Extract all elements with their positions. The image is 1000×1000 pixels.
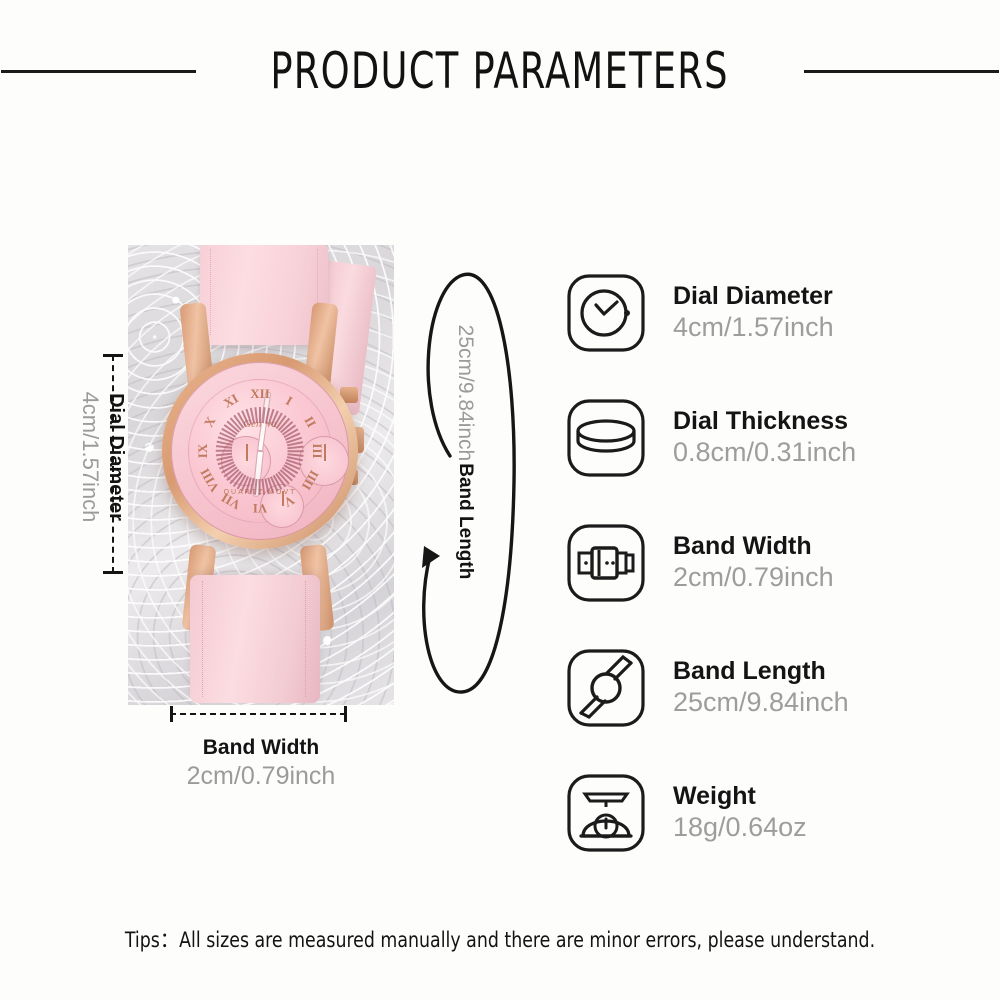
annotation-band-length: Band Length 25cm/9.84inch <box>404 250 524 710</box>
annotation-label: Band Length <box>454 463 476 579</box>
dial-roman-numeral: I <box>282 393 294 409</box>
dimension-cap-right <box>344 706 347 722</box>
dimension-line-horizontal <box>170 713 346 715</box>
dial-roman-numeral: III <box>309 443 325 458</box>
watch-case: Geneva QUARTZ MOVT XIIIIIIIIIIIIVVIVIIVI… <box>162 353 358 549</box>
annotation-dial-diameter: Dial Diameter 4cm/1.57inch <box>60 350 130 580</box>
product-photo: Geneva QUARTZ MOVT XIIIIIIIIIIIIVVIVIIVI… <box>128 245 394 705</box>
page-footer: Tips：All sizes are measured manually and… <box>0 924 1000 954</box>
annotation-value: 4cm/1.57inch <box>77 392 103 523</box>
watch-band-icon <box>565 522 647 604</box>
page-title: PRODUCT PARAMETERS <box>271 42 729 100</box>
spec-value: 4cm/1.57inch <box>673 311 834 343</box>
cylinder-icon <box>565 397 647 479</box>
measurement-diagram: Geneva QUARTZ MOVT XIIIIIIIIIIIIVVIVIIVI… <box>0 150 520 850</box>
spec-value: 2cm/0.79inch <box>673 561 834 593</box>
dimension-cap-bottom <box>103 571 123 574</box>
strap-bottom-segment <box>190 575 320 703</box>
watch-dial: Geneva QUARTZ MOVT XIIIIIIIIIIIIVVIVIIVI… <box>188 379 332 523</box>
dial-roman-numeral: XI <box>221 391 242 412</box>
spec-value: 18g/0.64oz <box>673 811 807 843</box>
title-rule-right <box>804 70 999 73</box>
watch-face-icon <box>565 272 647 354</box>
annotation-label: Band Width <box>128 736 394 760</box>
annotation-band-width: Band Width 2cm/0.79inch <box>128 706 394 791</box>
spec-row-dial-thickness: Dial Thickness 0.8cm/0.31inch <box>565 375 985 500</box>
spec-label: Dial Diameter <box>673 282 834 312</box>
title-rule-left <box>1 70 196 73</box>
spec-row-band-width: Band Width 2cm/0.79inch <box>565 500 985 625</box>
spec-label: Band Width <box>673 532 834 562</box>
dial-roman-numeral: XII <box>250 386 270 402</box>
spec-row-band-length: Band Length 25cm/9.84inch <box>565 625 985 750</box>
spec-list: Dial Diameter 4cm/1.57inch Dial Thicknes… <box>565 250 985 875</box>
dial-roman-numeral: VI <box>253 500 267 516</box>
wristwatch-icon <box>565 647 647 729</box>
tips-text: Tips：All sizes are measured manually and… <box>40 924 960 954</box>
kitchen-scale-icon <box>565 772 647 854</box>
spec-value: 0.8cm/0.31inch <box>673 436 856 468</box>
spec-label: Band Length <box>673 657 849 687</box>
annotation-value: 2cm/0.79inch <box>128 762 394 791</box>
spec-row-weight: Weight 18g/0.64oz <box>565 750 985 875</box>
spec-value: 25cm/9.84inch <box>673 686 849 718</box>
annotation-label: Dial Diameter <box>104 393 127 521</box>
spec-label: Weight <box>673 782 807 812</box>
spec-row-dial-diameter: Dial Diameter 4cm/1.57inch <box>565 250 985 375</box>
page-header: PRODUCT PARAMETERS <box>0 38 1000 104</box>
dial-roman-numeral: IX <box>195 444 211 458</box>
annotation-value: 25cm/9.84inch <box>453 325 477 462</box>
spec-label: Dial Thickness <box>673 407 856 437</box>
